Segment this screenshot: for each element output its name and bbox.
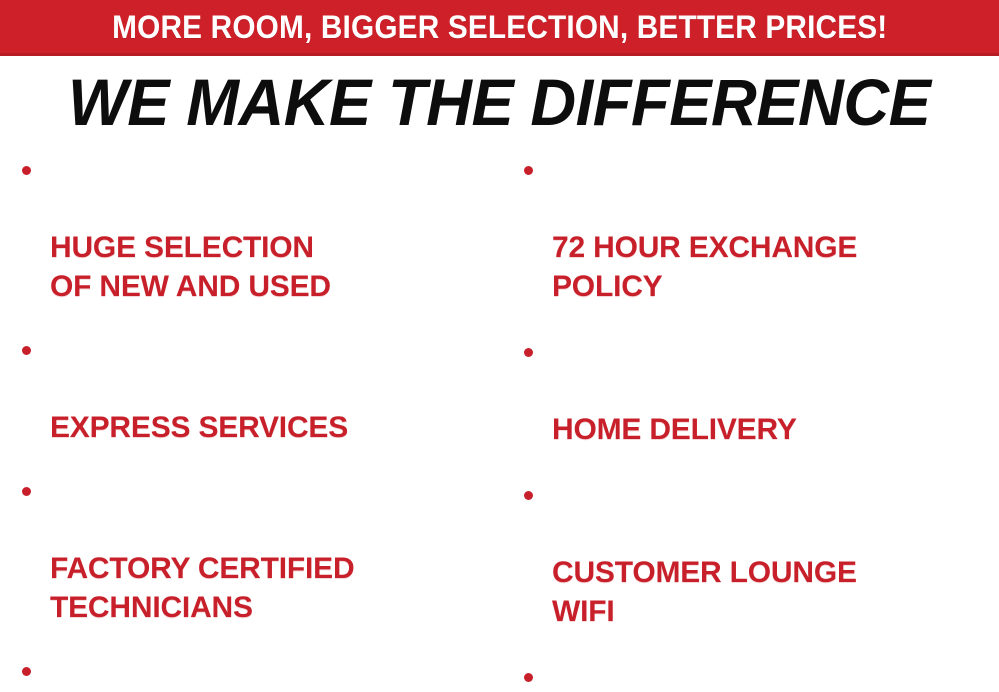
bullet-dot-icon [22, 166, 31, 175]
promotional-poster: MORE ROOM, BIGGER SELECTION, BETTER PRIC… [0, 0, 999, 692]
benefits-column-right: 72 HOUR EXCHANGE POLICY HOME DELIVERY CU… [508, 150, 999, 692]
list-item-label: CUSTOMER LOUNGE WIFI [552, 556, 857, 628]
list-item-label: HUGE SELECTION OF NEW AND USED [50, 231, 331, 303]
banner-headline-text: MORE ROOM, BIGGER SELECTION, BETTER PRIC… [112, 10, 887, 44]
headline-container: WE MAKE THE DIFFERENCE [0, 66, 999, 138]
bullet-dot-icon [22, 346, 31, 355]
benefits-columns: HUGE SELECTION OF NEW AND USED EXPRESS S… [0, 150, 999, 692]
list-item: COMPLIMENTARY LOANER CARS [10, 651, 505, 692]
list-item-label: HOME DELIVERY [552, 413, 797, 446]
bullet-dot-icon [524, 166, 533, 175]
top-banner: MORE ROOM, BIGGER SELECTION, BETTER PRIC… [0, 0, 999, 56]
list-item-label: 72 HOUR EXCHANGE POLICY [552, 231, 857, 303]
bullet-dot-icon [22, 487, 31, 496]
list-item: EXPRESS SERVICES [10, 330, 505, 447]
list-item: HUGE SELECTION OF NEW AND USED [10, 150, 505, 306]
list-item: FACTORY CERTIFIED TECHNICIANS [10, 471, 505, 627]
bullet-dot-icon [22, 667, 31, 676]
bullet-dot-icon [524, 491, 533, 500]
list-item: 72 HOUR EXCHANGE POLICY [508, 150, 999, 306]
benefits-column-left: HUGE SELECTION OF NEW AND USED EXPRESS S… [10, 150, 505, 692]
list-item: CUSTOMER LOUNGE WIFI [508, 475, 999, 631]
page-title: WE MAKE THE DIFFERENCE [68, 67, 930, 137]
list-item-label: FACTORY CERTIFIED TECHNICIANS [50, 552, 354, 624]
bullet-dot-icon [524, 673, 533, 682]
list-item-label: EXPRESS SERVICES [50, 411, 348, 444]
list-item: HOME DELIVERY [508, 332, 999, 449]
list-item: MILITARY DISCOUNTS [508, 657, 999, 692]
bullet-dot-icon [524, 348, 533, 357]
